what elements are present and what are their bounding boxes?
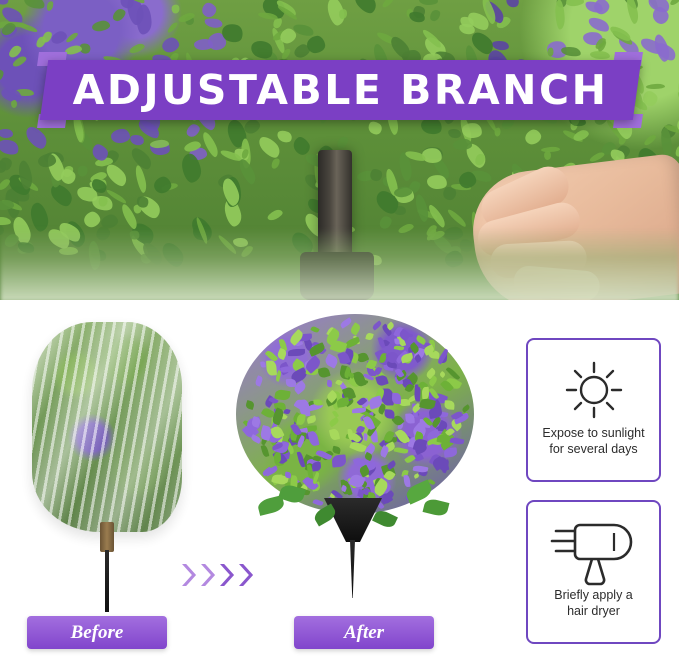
card-sunlight-text: Expose to sunlight for several days — [534, 426, 652, 465]
card-hair-dryer: Briefly apply a hair dryer — [526, 500, 661, 644]
hair-dryer-icon — [548, 516, 640, 588]
photo-fade — [0, 228, 679, 300]
plastic-wrap-sheen — [32, 322, 182, 532]
sun-icon — [557, 354, 631, 426]
lavender-topiary-ball — [236, 314, 474, 514]
label-before: Before — [27, 616, 167, 649]
card-sunlight: Expose to sunlight for several days — [526, 338, 661, 482]
arrow-icon — [182, 564, 198, 586]
card-sunlight-line1: Expose to sunlight — [542, 426, 644, 442]
before-ground-stake — [105, 550, 109, 612]
sprig-leaf — [423, 497, 450, 517]
card-sunlight-line2: for several days — [542, 442, 644, 458]
before-stem — [100, 522, 114, 552]
card-hair-dryer-line1: Briefly apply a — [554, 588, 633, 604]
title-banner: ADJUSTABLE BRANCH — [40, 60, 641, 120]
label-after: After — [294, 616, 434, 649]
hero-photo: ADJUSTABLE BRANCH — [0, 0, 679, 300]
label-before-text: Before — [71, 622, 124, 644]
sprig-leaf — [257, 495, 286, 516]
banner-title: ADJUSTABLE BRANCH — [73, 66, 609, 114]
arrow-icon — [201, 564, 217, 586]
card-hair-dryer-text: Briefly apply a hair dryer — [546, 588, 641, 627]
after-product — [228, 300, 508, 600]
after-ground-stake — [350, 540, 355, 598]
before-product — [22, 322, 212, 592]
label-after-text: After — [344, 622, 384, 644]
product-infographic: ADJUSTABLE BRANCH Before — [0, 0, 679, 659]
sprig-leaf — [372, 508, 398, 530]
card-hair-dryer-line2: hair dryer — [554, 604, 633, 620]
